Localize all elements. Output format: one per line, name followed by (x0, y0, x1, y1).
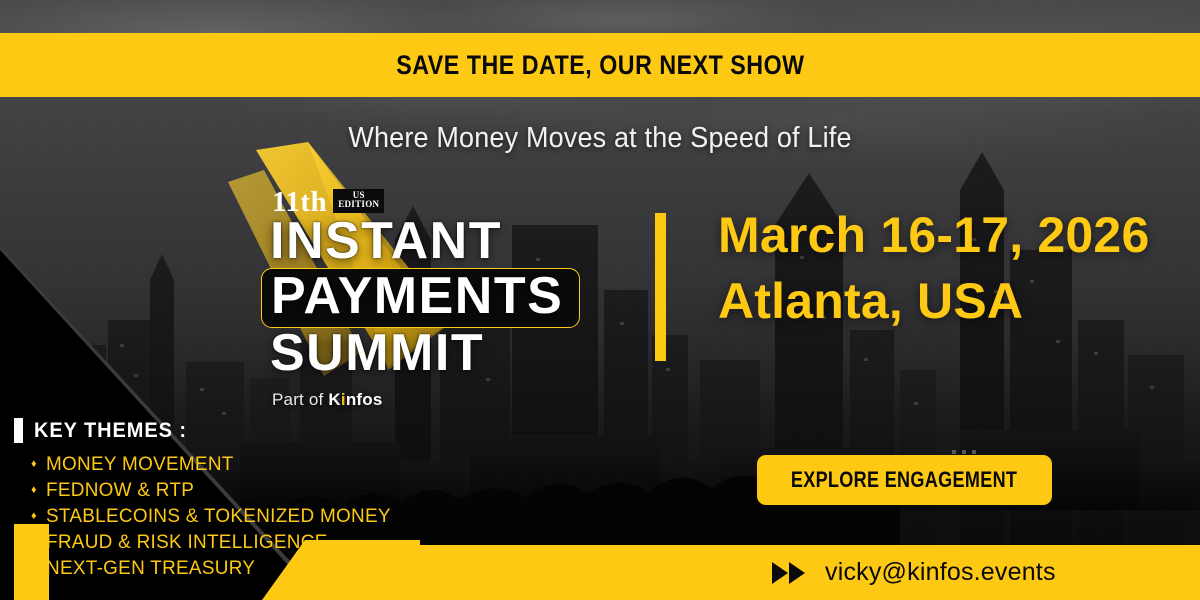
key-theme-label: NEXT-GEN TREASURY (46, 557, 255, 580)
date-accent-bar (655, 213, 666, 361)
key-themes-section: KEY THEMES : ♦ MONEY MOVEMENT ♦ FEDNOW &… (14, 418, 401, 582)
tagline-prefix: Part of (272, 390, 328, 409)
list-item: ♦ MONEY MOVEMENT (31, 452, 401, 477)
key-theme-label: FRAUD & RISK INTELLIGENCE (46, 531, 328, 554)
diamond-bullet-icon: ♦ (31, 537, 37, 548)
logo-tagline: Part of Kinfos (272, 390, 383, 410)
save-the-date-text: SAVE THE DATE, OUR NEXT SHOW (396, 50, 804, 81)
key-theme-label: MONEY MOVEMENT (46, 453, 234, 476)
explore-engagement-label: EXPLORE ENGAGEMENT (791, 467, 1017, 493)
logo-line-summit: SUMMIT (270, 330, 484, 378)
diamond-bullet-icon: ♦ (31, 485, 37, 496)
contact-email[interactable]: vicky@kinfos.events (825, 558, 1056, 587)
event-location: Atlanta, USA (718, 273, 1149, 329)
logo-payments-box: PAYMENTS (261, 268, 580, 328)
event-date-location: March 16-17, 2026 Atlanta, USA (718, 207, 1149, 329)
hero-subtitle: Where Money Moves at the Speed of Life (42, 122, 1158, 155)
list-item: ♦ FRAUD & RISK INTELLIGENCE (31, 530, 401, 555)
save-the-date-banner: SAVE THE DATE, OUR NEXT SHOW (0, 33, 1200, 97)
footer-contact[interactable]: vicky@kinfos.events (772, 545, 1056, 600)
key-themes-accent-bar (14, 418, 23, 443)
fast-forward-icon (772, 562, 805, 584)
edition-badge-line2: EDITION (338, 200, 379, 209)
event-logo: 11th US EDITION INSTANT PAYMENTS SUMMIT … (212, 140, 672, 390)
diamond-bullet-icon: ♦ (31, 459, 37, 470)
diamond-bullet-icon: ♦ (31, 511, 37, 522)
key-theme-label: FEDNOW & RTP (46, 479, 194, 502)
explore-engagement-button[interactable]: EXPLORE ENGAGEMENT (757, 455, 1052, 505)
logo-line-payments: PAYMENTS (271, 273, 563, 321)
list-item: ♦ STABLECOINS & TOKENIZED MONEY (31, 504, 401, 529)
key-themes-header: KEY THEMES : (14, 418, 401, 443)
us-edition-badge: US EDITION (333, 189, 384, 213)
brand-nfos: nfos (346, 390, 383, 409)
tagline-brand: Kinfos (328, 390, 382, 409)
event-date: March 16-17, 2026 (718, 207, 1149, 263)
key-themes-title: KEY THEMES : (34, 419, 187, 443)
brand-k: K (328, 390, 340, 409)
diamond-bullet-icon: ♦ (31, 563, 37, 574)
list-item: ♦ FEDNOW & RTP (31, 478, 401, 503)
logo-line-instant: INSTANT (270, 218, 502, 266)
event-banner: SAVE THE DATE, OUR NEXT SHOW Where Money… (0, 0, 1200, 600)
key-theme-label: STABLECOINS & TOKENIZED MONEY (46, 505, 391, 528)
list-item: ♦ NEXT-GEN TREASURY (31, 556, 401, 581)
